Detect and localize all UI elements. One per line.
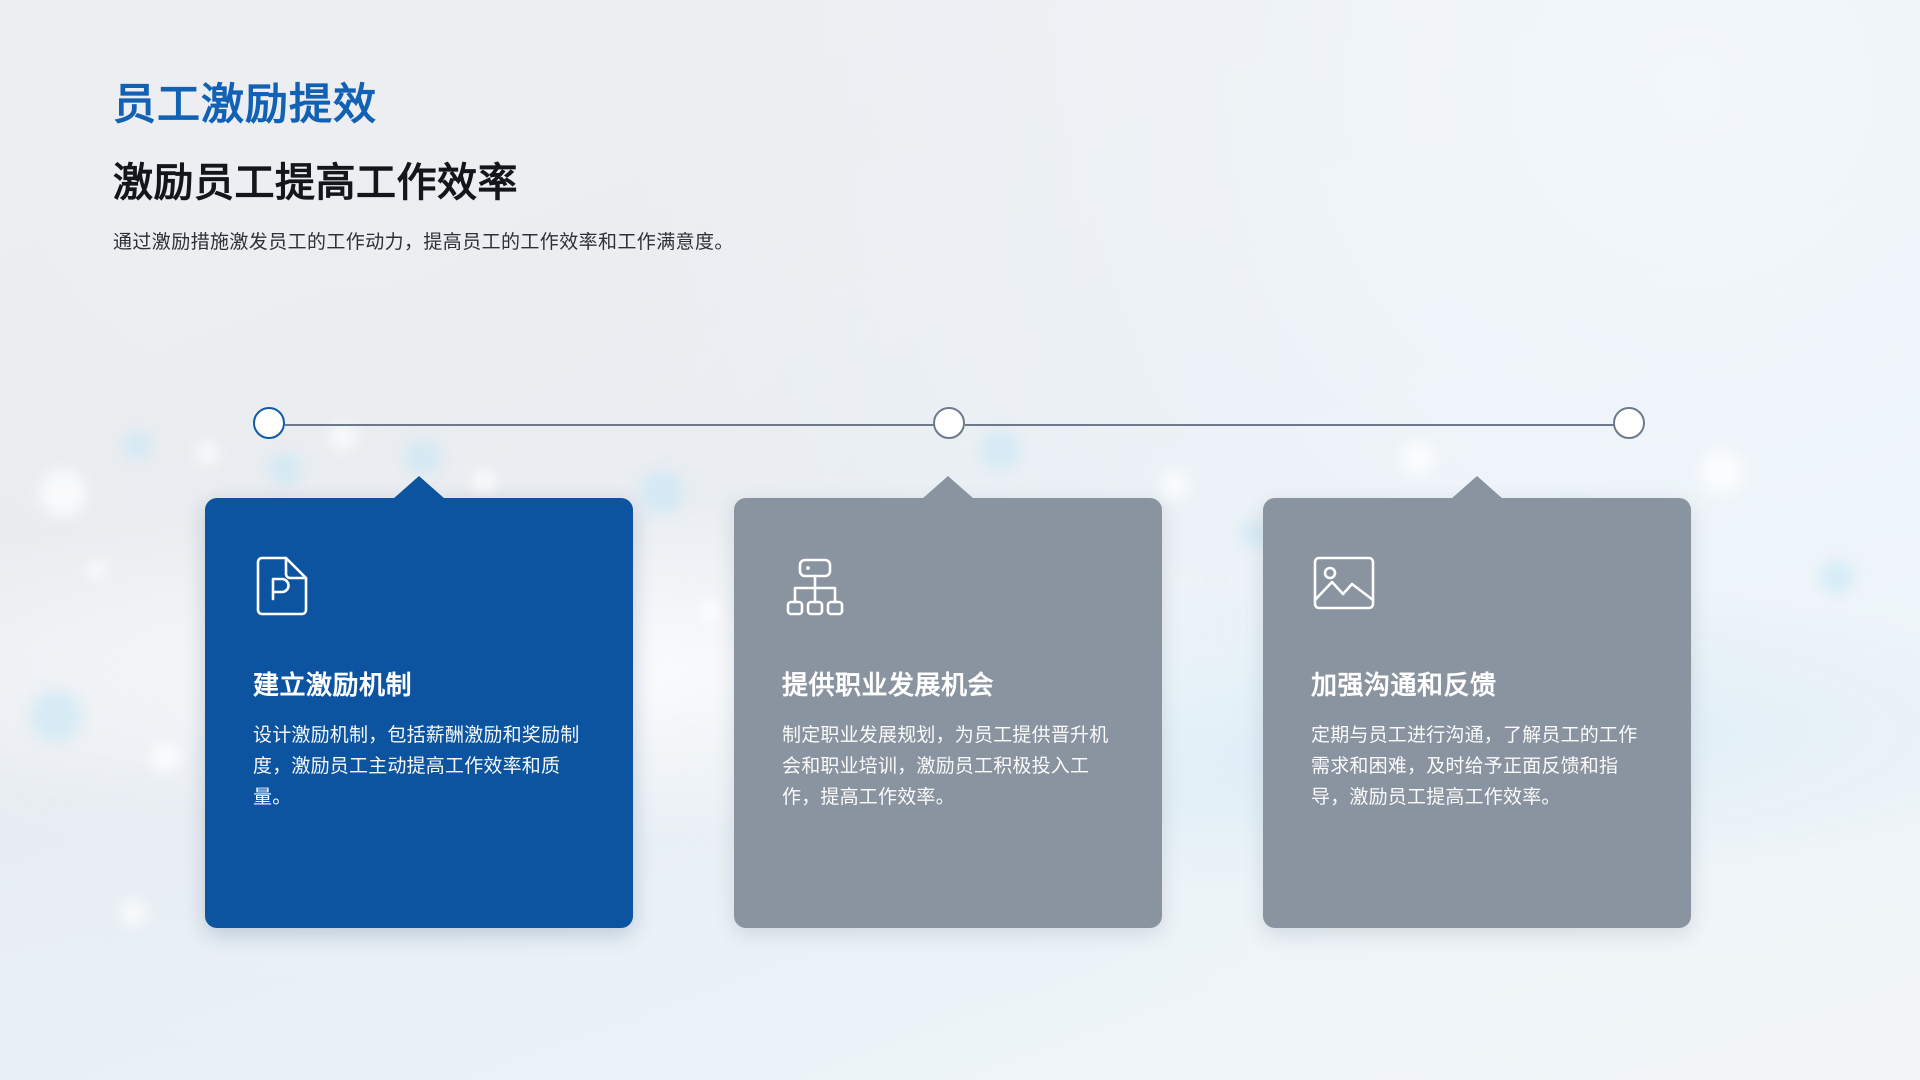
card-title: 建立激励机制 xyxy=(253,670,585,701)
image-picture-icon xyxy=(1311,554,1643,618)
feature-card-career-development[interactable]: 提供职业发展机会 制定职业发展规划，为员工提供晋升机会和职业培训，激励员工积极投… xyxy=(734,498,1162,928)
feature-card-communication-feedback[interactable]: 加强沟通和反馈 定期与员工进行沟通，了解员工的工作需求和困难，及时给予正面反馈和… xyxy=(1263,498,1691,928)
card-body: 设计激励机制，包括薪酬激励和奖励制度，激励员工主动提高工作效率和质量。 xyxy=(253,721,585,813)
org-chart-icon xyxy=(782,554,1114,618)
card-group: 建立激励机制 设计激励机制，包括薪酬激励和奖励制度，激励员工主动提高工作效率和质… xyxy=(0,0,1920,1080)
card-pointer-triangle xyxy=(922,476,974,499)
card-body: 定期与员工进行沟通，了解员工的工作需求和困难，及时给予正面反馈和指导，激励员工提… xyxy=(1311,721,1643,813)
card-title: 提供职业发展机会 xyxy=(782,670,1114,701)
card-pointer-triangle xyxy=(393,476,445,499)
slide-canvas: 员工激励提效 激励员工提高工作效率 通过激励措施激发员工的工作动力，提高员工的工… xyxy=(0,0,1920,1080)
card-pointer-triangle xyxy=(1451,476,1503,499)
feature-card-establish-incentive[interactable]: 建立激励机制 设计激励机制，包括薪酬激励和奖励制度，激励员工主动提高工作效率和质… xyxy=(205,498,633,928)
card-body: 制定职业发展规划，为员工提供晋升机会和职业培训，激励员工积极投入工作，提高工作效… xyxy=(782,721,1114,813)
card-title: 加强沟通和反馈 xyxy=(1311,670,1643,701)
document-p-icon xyxy=(253,554,585,618)
